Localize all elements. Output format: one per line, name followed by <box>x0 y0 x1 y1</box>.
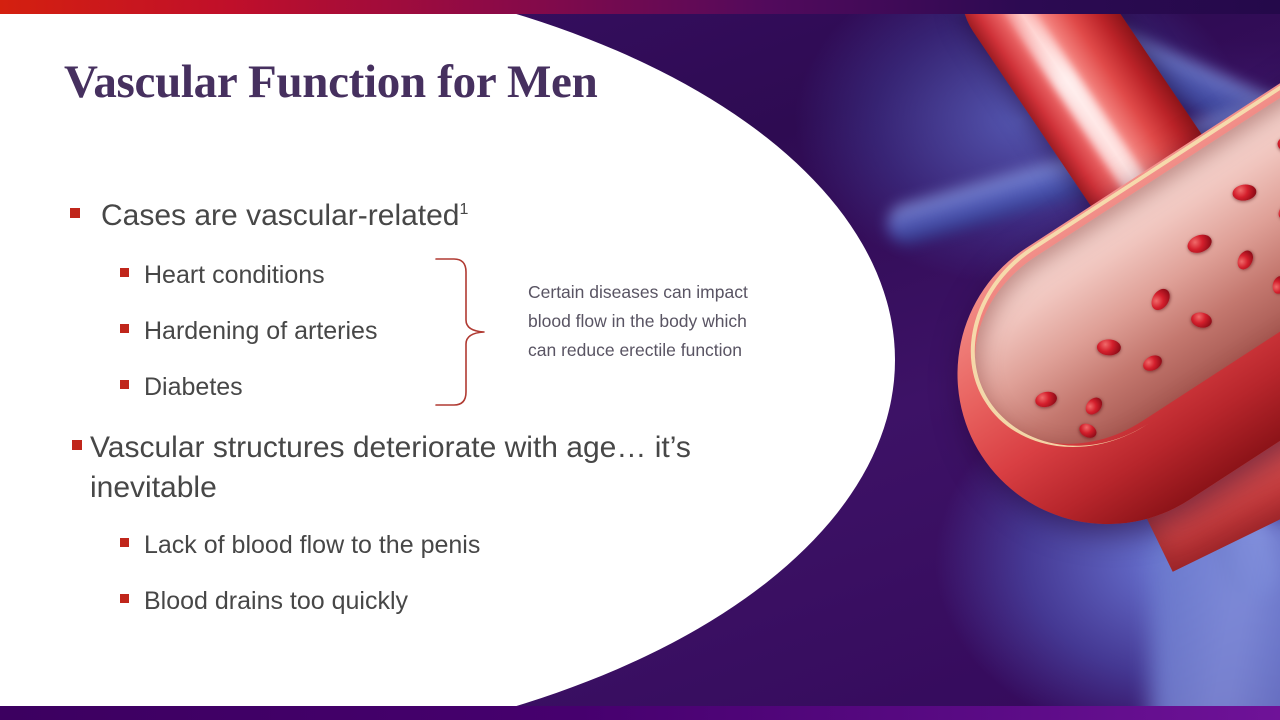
curly-brace-icon <box>432 256 492 408</box>
list-item: Blood drains too quickly <box>120 584 590 618</box>
list-item-label: Hardening of arteries <box>144 314 377 348</box>
callout-text: Certain diseases can impact blood flow i… <box>528 278 778 365</box>
list-item-label: Diabetes <box>144 370 243 404</box>
list-item-label: Blood drains too quickly <box>144 584 408 618</box>
list-item: Hardening of arteries <box>120 314 450 348</box>
footnote-marker: 1 <box>460 201 469 218</box>
list-item: Vascular structures deteriorate with age… <box>72 428 762 508</box>
list-item-label: Vascular structures deteriorate with age… <box>90 428 762 508</box>
bullet-square-icon <box>120 380 129 389</box>
bullet-square-icon <box>120 594 129 603</box>
bottom-accent-bar <box>0 706 1280 720</box>
list-item-label: Lack of blood flow to the penis <box>144 528 480 562</box>
list-item: Diabetes <box>120 370 450 404</box>
list-item: Heart conditions <box>120 258 450 292</box>
bullet-square-icon <box>120 538 129 547</box>
page-title: Vascular Function for Men <box>64 55 597 109</box>
presentation-slide: Vascular Function for Men Cases are vasc… <box>0 0 1280 720</box>
list-item-label: Cases are vascular-related1 <box>101 196 468 236</box>
list-item: Lack of blood flow to the penis <box>120 528 590 562</box>
bullet-square-icon <box>70 208 80 218</box>
top-accent-bar <box>0 0 1280 14</box>
bullet-square-icon <box>120 324 129 333</box>
bullet-square-icon <box>72 440 82 450</box>
bullet-square-icon <box>120 268 129 277</box>
list-item-label: Heart conditions <box>144 258 325 292</box>
list-item: Cases are vascular-related1 <box>70 196 770 236</box>
